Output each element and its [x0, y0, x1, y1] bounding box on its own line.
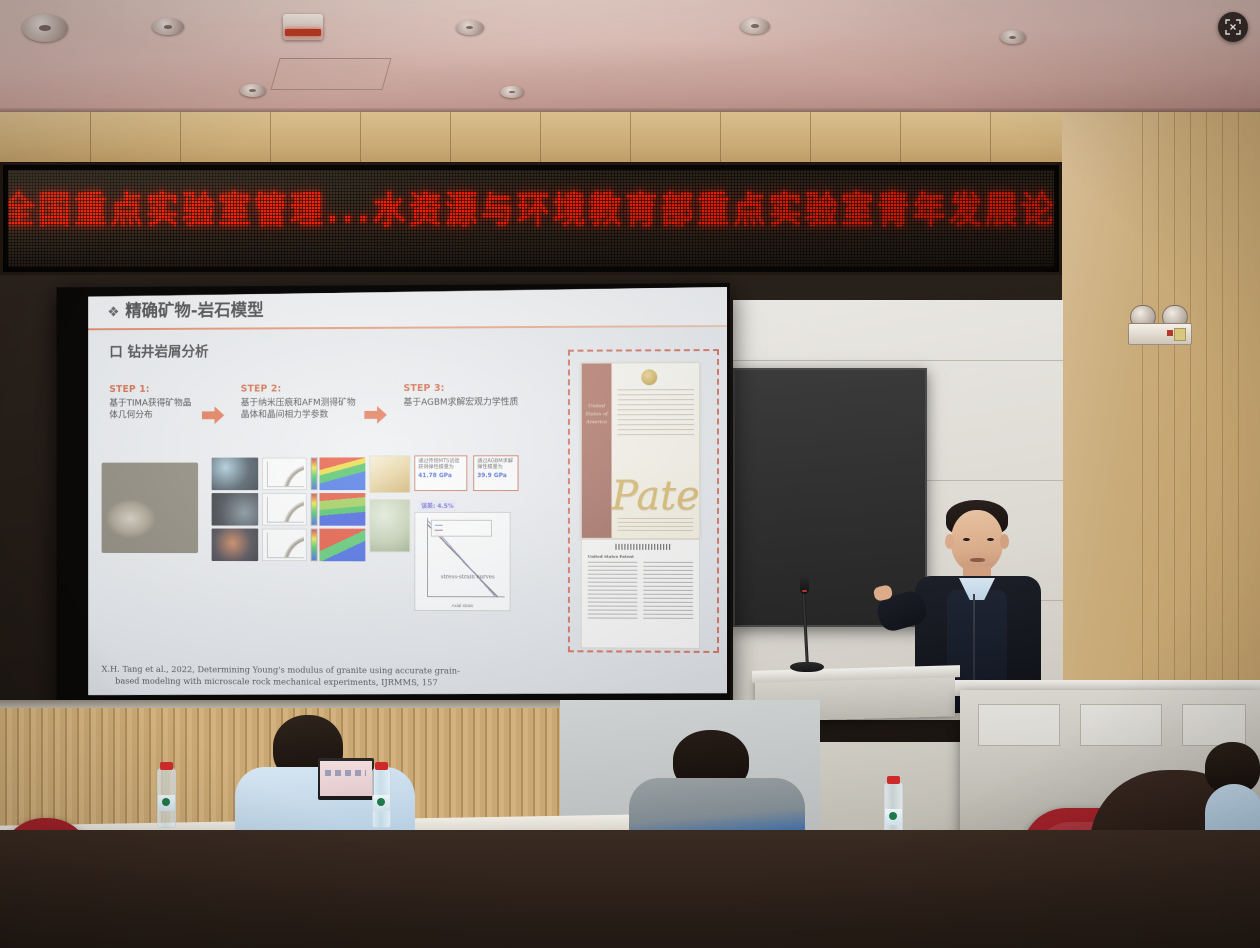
citation-line-2: based modeling with microscale rock mech… [102, 676, 521, 690]
step-3-label: STEP 3: [404, 383, 527, 394]
smoke-detector-icon [500, 86, 524, 98]
step-3: STEP 3: 基于AGBM求解宏观力学性质 [404, 383, 527, 409]
laptop [318, 758, 374, 800]
diamond-bullet-icon: ❖ [107, 305, 119, 321]
presenter-head [951, 510, 1003, 572]
ceiling-access-panel [270, 58, 391, 90]
plot-xlabel: Axial strain [415, 603, 509, 608]
patent-side-text: United States of America [582, 402, 612, 426]
annotation-agbm-value: 39.9 GPa [477, 472, 514, 479]
smoke-detector-icon [22, 14, 68, 42]
microphone-icon [800, 576, 809, 594]
error-note: 误差: 4.5% [418, 500, 456, 511]
patent-word: Patent [612, 476, 701, 516]
step-2: STEP 2: 基于纳米压痕和AFM测得矿物晶体和晶间相力学参数 [241, 383, 358, 421]
plot-caption: stress-strain curves [441, 574, 495, 580]
smoke-detector-icon [152, 18, 184, 35]
grain-model-figure [369, 455, 410, 493]
citation: X.H. Tang et al., 2022, Determining Youn… [102, 665, 521, 690]
patent-seal-icon [641, 369, 657, 385]
patent-document: United States Patent [581, 539, 700, 649]
stress-strain-plot: stress-strain curves Axial strain [414, 512, 510, 611]
water-bottle [157, 768, 176, 828]
smoke-detector-icon [456, 20, 484, 35]
slide-title-text: 精确矿物-岩石模型 [125, 301, 263, 321]
step-1: STEP 1: 基于TIMA获得矿物晶体几何分布 [109, 384, 198, 422]
slide-title: ❖精确矿物-岩石模型 [107, 296, 263, 321]
step-1-text: 基于TIMA获得矿物晶体几何分布 [109, 398, 198, 422]
step-2-label: STEP 2: [241, 383, 358, 394]
nanoindentation-curve-grid [262, 458, 307, 562]
scan-close-button[interactable] [1218, 12, 1248, 42]
step-3-text: 基于AGBM求解宏观力学性质 [404, 397, 527, 409]
smoke-detector-icon [740, 18, 770, 34]
slide-subheading: 口 钻井岩屑分析 [109, 341, 208, 361]
annotation-agbm: 通过AGBM求解弹性模量为 39.9 GPa [473, 455, 518, 491]
afm-heatmap-grid [311, 457, 366, 561]
led-banner-text: 全国重点实验室管理...水资源与环境教育部重点实验室青年发展论坛 [8, 190, 1054, 230]
agbm-model-figure [369, 499, 410, 552]
projection-screen-frame: ❖精确矿物-岩石模型 口 钻井岩屑分析 STEP 1: 基于TIMA获得矿物晶体… [56, 283, 730, 713]
annotation-mts-value: 41.78 GPa [418, 472, 463, 479]
emergency-light [1128, 305, 1190, 341]
plot-legend [431, 520, 492, 537]
right-wall [1062, 112, 1260, 752]
floor [0, 830, 1260, 948]
water-bottle [372, 768, 391, 828]
annotation-agbm-text: 通过AGBM求解弹性模量为 [477, 458, 514, 471]
rock-sample-photo [102, 463, 198, 554]
projection-screen: ❖精确矿物-岩石模型 口 钻井岩屑分析 STEP 1: 基于TIMA获得矿物晶体… [88, 287, 727, 699]
ceiling-light-wash [0, 0, 1260, 118]
scan-close-icon [1225, 19, 1241, 35]
barcode-icon [615, 544, 671, 550]
smoke-detector-icon [240, 84, 266, 97]
step-2-text: 基于纳米压痕和AFM测得矿物晶体和晶间相力学参数 [241, 397, 358, 421]
led-banner: 全国重点实验室管理...水资源与环境教育部重点实验室青年发展论坛 [0, 162, 1062, 275]
exit-sign-icon [283, 14, 323, 40]
annotation-mts-text: 通过传统MTS试验获得弹性模量为 [418, 458, 463, 471]
annotation-mts: 通过传统MTS试验获得弹性模量为 41.78 GPa [414, 455, 467, 491]
patent-doc-header: United States Patent [588, 554, 634, 559]
step-1-label: STEP 1: [109, 384, 198, 395]
patent-certificate: United States of America Patent [581, 362, 700, 539]
smoke-detector-icon [1000, 30, 1026, 44]
microphone-base [790, 662, 824, 672]
conference-photo: 全国重点实验室管理...水资源与环境教育部重点实验室青年发展论坛 ❖精确矿物-岩… [0, 0, 1260, 948]
micrograph-grid [212, 458, 259, 562]
